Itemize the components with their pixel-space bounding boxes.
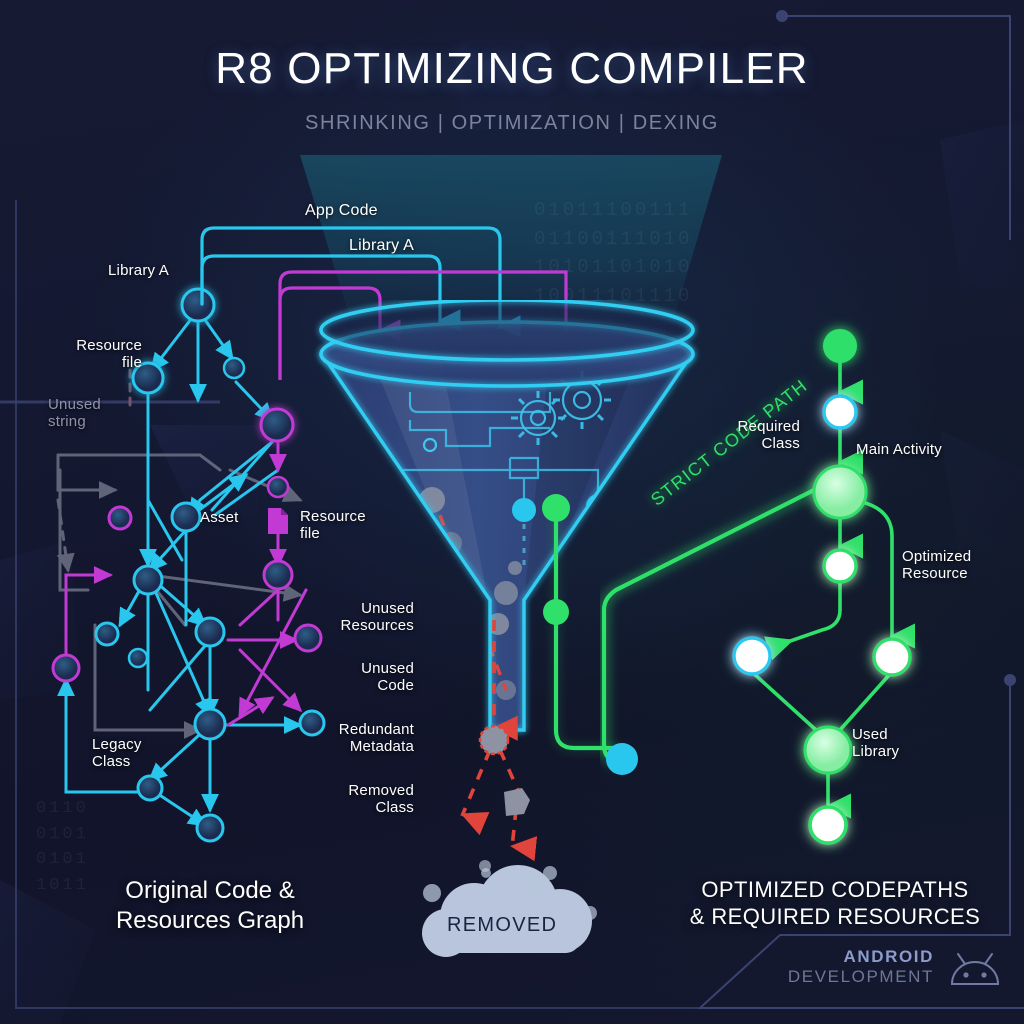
label-unused-resources: Unused Resources: [306, 600, 414, 635]
codepath-junction-node: [596, 735, 656, 795]
label-redundant-metadata: Redundant Metadata: [296, 721, 414, 756]
label-used-library: Used Library: [852, 726, 899, 761]
label-removed-class: Removed Class: [300, 782, 414, 817]
caption-right: OPTIMIZED CODEPATHS & REQUIRED RESOURCES: [660, 876, 1010, 931]
infographic-canvas: 01011100111 01100111010 10101101010 1001…: [0, 0, 1024, 1024]
android-robot-icon: [944, 946, 1006, 988]
label-required-class: Required Class: [708, 418, 800, 453]
label-main-activity: Main Activity: [856, 441, 942, 458]
label-app-code: App Code: [305, 202, 378, 220]
page-subtitle: SHRINKING | OPTIMIZATION | DEXING: [0, 112, 1024, 135]
brand-line-development: DEVELOPMENT: [788, 967, 934, 987]
removed-cloud-label: REMOVED: [447, 914, 557, 937]
removed-cloud: [410, 855, 620, 965]
label-asset: Asset: [200, 509, 239, 526]
brand-block: ANDROID DEVELOPMENT: [788, 946, 1006, 988]
page-title: R8 OPTIMIZING COMPILER: [0, 44, 1024, 94]
resource-file-icon: [268, 508, 288, 534]
label-library-a-input: Library A: [349, 237, 414, 255]
caption-left: Original Code & Resources Graph: [60, 876, 360, 936]
label-unused-code: Unused Code: [306, 660, 414, 695]
brand-line-android: ANDROID: [788, 947, 934, 967]
label-optimized-resource: Optimized Resource: [902, 548, 971, 583]
label-unused-string: Unused string: [48, 396, 101, 431]
label-legacy-class: Legacy Class: [92, 736, 142, 771]
optimized-codepaths-graph: [600, 310, 1024, 870]
